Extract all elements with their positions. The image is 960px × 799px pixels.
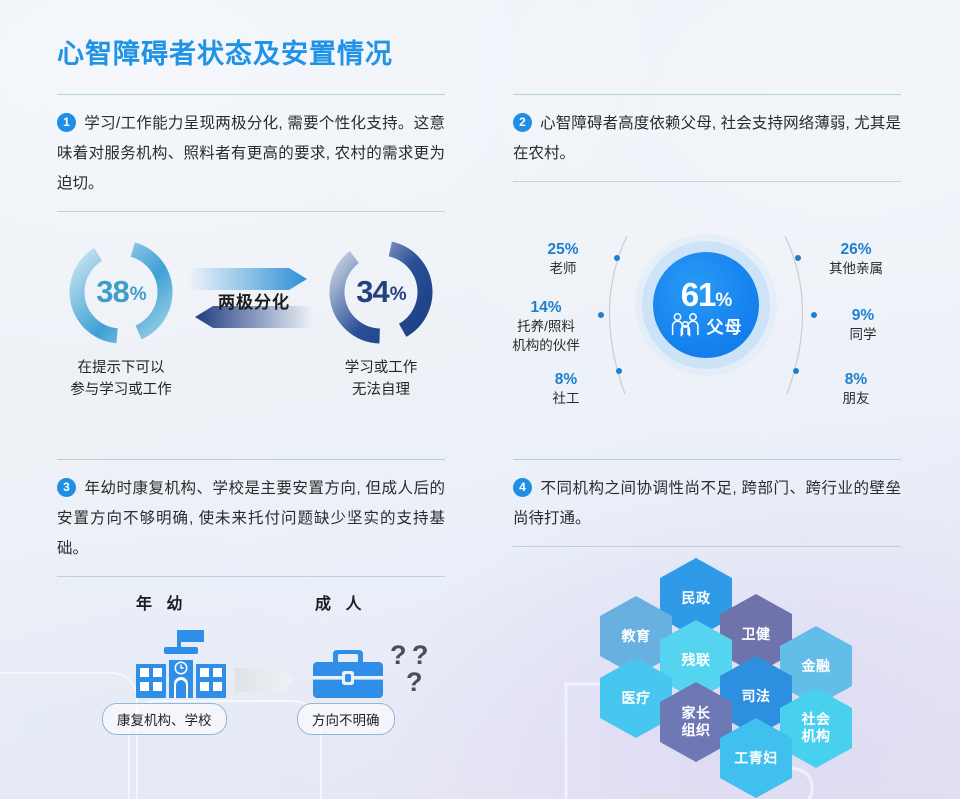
donut-38-unit: % (130, 284, 146, 306)
network-item-label-line2: 机构的伙伴 (490, 337, 602, 355)
network-item-classmate: 9% 同学 (807, 306, 919, 344)
network-item-label: 社工 (510, 390, 622, 408)
infographic-canvas: 心智障碍者状态及安置情况 1学习/工作能力呈现两极分化, 需要个性化支持。这意味… (0, 0, 960, 799)
block-3-text: 3年幼时康复机构、学校是主要安置方向, 但成人后的安置方向不够明确, 使未来托付… (57, 460, 445, 576)
hex-label: 金融 (802, 658, 831, 675)
polarization-label: 两极分化 (196, 288, 312, 313)
hex-label: 社会机构 (802, 711, 831, 745)
hex-label: 卫健 (742, 626, 771, 643)
donut-34-caption-line2: 无法自理 (296, 379, 466, 401)
block-2-text: 2心智障碍者高度依赖父母, 社会支持网络薄弱, 尤其是在农村。 (513, 95, 901, 181)
donut-34-caption: 学习或工作 无法自理 (296, 357, 466, 401)
network-item-value: 25% (507, 240, 619, 259)
school-icon (136, 630, 226, 698)
placement-flow: 年 幼 成 人 (60, 590, 460, 740)
network-item-value: 9% (807, 306, 919, 325)
network-item-label: 其他亲属 (800, 260, 912, 278)
divider (513, 546, 901, 547)
donut-34-caption-line1: 学习或工作 (296, 357, 466, 379)
block-number-badge: 4 (513, 478, 532, 497)
divider (57, 459, 445, 460)
block-3-body: 年幼时康复机构、学校是主要安置方向, 但成人后的安置方向不够明确, 使未来托付问… (57, 480, 445, 557)
network-item-value: 26% (800, 240, 912, 259)
network-center-value: 61% (681, 276, 732, 314)
block-1-body: 学习/工作能力呈现两极分化, 需要个性化支持。这意味着对服务机构、照料者有更高的… (57, 115, 445, 192)
block-4-text: 4不同机构之间协调性尚不足, 跨部门、跨行业的壁垒尚待打通。 (513, 460, 901, 546)
divider (513, 181, 901, 182)
donut-38: 38% (68, 239, 174, 345)
network-item-value: 8% (510, 370, 622, 389)
network-item-friend: 8% 朋友 (800, 370, 912, 408)
donut-34-number: 34 (356, 274, 388, 310)
network-center-unit: % (715, 290, 731, 311)
network-item-value: 8% (800, 370, 912, 389)
donut-34: 34% (328, 239, 434, 345)
network-item-other-relatives: 26% 其他亲属 (800, 240, 912, 278)
divider (513, 94, 901, 95)
support-network-chart: 61% 父母 25% 老师 14% (497, 222, 917, 422)
block-1: 1学习/工作能力呈现两极分化, 需要个性化支持。这意味着对服务机构、照料者有更高… (57, 94, 445, 212)
hex-label: 民政 (682, 590, 711, 607)
block-1-text: 1学习/工作能力呈现两极分化, 需要个性化支持。这意味着对服务机构、照料者有更高… (57, 95, 445, 211)
network-item-value: 14% (490, 298, 602, 317)
network-item-social-worker: 8% 社工 (510, 370, 622, 408)
divider (513, 459, 901, 460)
block-3: 3年幼时康复机构、学校是主要安置方向, 但成人后的安置方向不够明确, 使未来托付… (57, 459, 445, 577)
block-number-badge: 2 (513, 113, 532, 132)
donut-38-caption: 在提示下可以 参与学习或工作 (36, 357, 206, 401)
network-item-label: 朋友 (800, 390, 912, 408)
network-item-teacher: 25% 老师 (507, 240, 619, 278)
network-item-label: 同学 (807, 326, 919, 344)
family-icon (670, 312, 702, 338)
donut-group: 38% 34% 在提示下可以 参与学习或工作 学习或工作 无法自理 (57, 232, 445, 432)
donut-38-number: 38 (96, 274, 128, 310)
briefcase-icon (313, 650, 383, 698)
block-4: 4不同机构之间协调性尚不足, 跨部门、跨行业的壁垒尚待打通。 (513, 459, 901, 547)
network-item-label-line1: 托养/照料 (490, 318, 602, 336)
flow-arrow-icon (235, 668, 294, 692)
network-item-label: 老师 (507, 260, 619, 278)
divider (57, 211, 445, 212)
donut-38-caption-line2: 参与学习或工作 (36, 379, 206, 401)
hex-label: 教育 (622, 628, 651, 645)
network-dot (793, 368, 799, 374)
pill-adult: 方向不明确 (297, 703, 395, 735)
pill-young: 康复机构、学校 (102, 703, 227, 735)
block-number-badge: 1 (57, 113, 76, 132)
page-title: 心智障碍者状态及安置情况 (57, 32, 393, 71)
hex-label: 工青妇 (734, 750, 778, 767)
question-marks-icon: ? ?? (390, 642, 428, 696)
hex-label: 医疗 (622, 690, 651, 707)
donut-38-caption-line1: 在提示下可以 (36, 357, 206, 379)
block-2: 2心智障碍者高度依赖父母, 社会支持网络薄弱, 尤其是在农村。 (513, 94, 901, 182)
divider (57, 94, 445, 95)
donut-38-value: 38% (68, 239, 174, 345)
donut-34-value: 34% (328, 239, 434, 345)
block-number-badge: 3 (57, 478, 76, 497)
agency-hex-cluster: 民政 教育 卫健 残联 金融 医疗 司法 家长组织 社会机构 工青妇 (600, 548, 870, 773)
network-center-parents: 61% 父母 (653, 252, 759, 358)
block-2-body: 心智障碍者高度依赖父母, 社会支持网络薄弱, 尤其是在农村。 (513, 115, 901, 162)
donut-34-unit: % (390, 284, 406, 306)
divider (57, 576, 445, 577)
network-item-care-peers: 14% 托养/照料 机构的伙伴 (490, 298, 602, 355)
network-center-label: 父母 (707, 313, 743, 338)
network-center-number: 61 (681, 276, 716, 313)
block-4-body: 不同机构之间协调性尚不足, 跨部门、跨行业的壁垒尚待打通。 (513, 480, 901, 527)
hex-label: 司法 (742, 688, 771, 705)
hex-label: 残联 (682, 652, 711, 669)
hex-label: 家长组织 (682, 705, 711, 739)
